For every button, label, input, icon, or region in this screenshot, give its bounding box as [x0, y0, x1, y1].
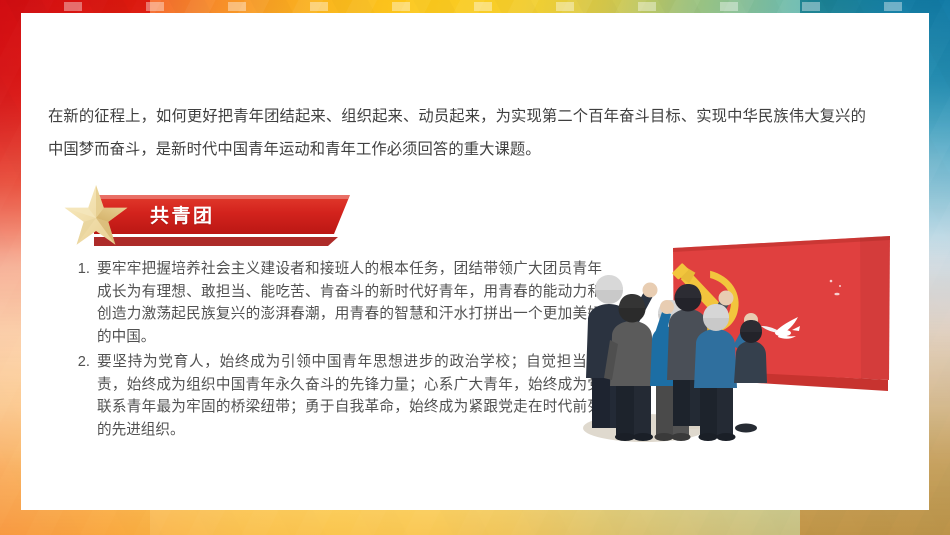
banner-ribbon-shadow	[94, 237, 338, 246]
flag-shade	[860, 236, 890, 380]
banner-ribbon	[94, 195, 350, 234]
key-points-list: 要牢牢把握培养社会主义建设者和接班人的根本任务，团结带领广大团员青年成长为有理想…	[60, 258, 602, 444]
list-item: 要坚持为党育人，始终成为引领中国青年思想进步的政治学校；自觉担当尽责，始终成为组…	[94, 351, 602, 441]
lead-paragraph: 在新的征程上，如何更好把青年团结起来、组织起来、动员起来，为实现第二个百年奋斗目…	[48, 100, 866, 166]
stray-shoe	[735, 424, 757, 433]
banner-ribbon-highlight	[94, 195, 350, 199]
illustration-graphic	[540, 228, 920, 453]
slide-root: 在新的征程上，如何更好把青年团结起来、组织起来、动员起来，为实现第二个百年奋斗目…	[0, 0, 950, 535]
list-item: 要牢牢把握培养社会主义建设者和接班人的根本任务，团结带领广大团员青年成长为有理想…	[94, 258, 602, 348]
illustration-crowd-party-flag	[540, 228, 920, 453]
banner-title: 共青团	[150, 201, 215, 228]
background-top-dashes	[0, 2, 950, 11]
section-banner: 共青团	[60, 182, 350, 252]
